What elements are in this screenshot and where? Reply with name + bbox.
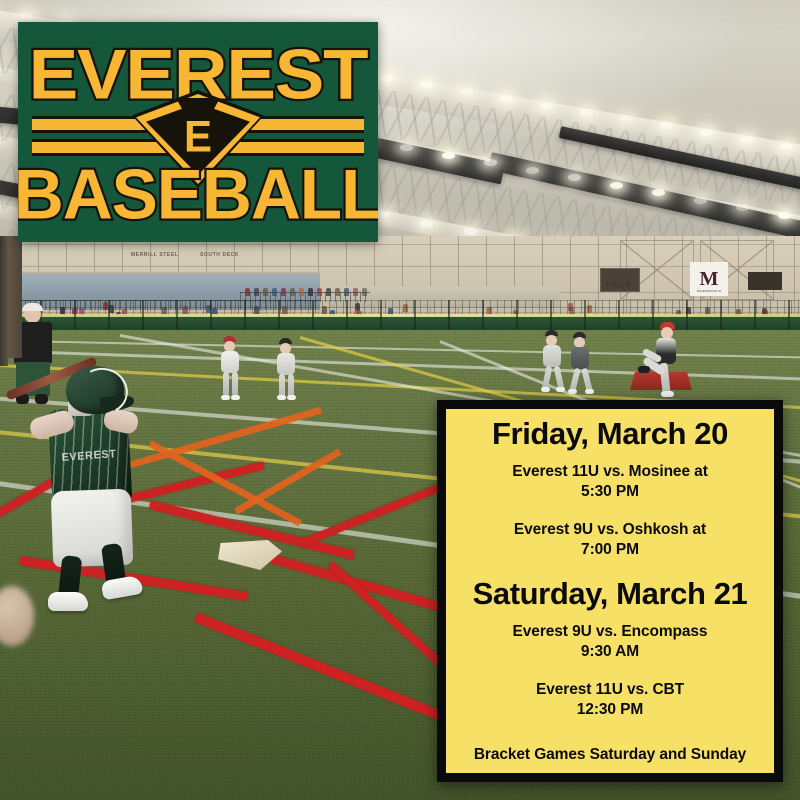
ceiling-light (526, 167, 539, 174)
fence-post (720, 300, 722, 334)
fence-post (346, 300, 348, 334)
logo-monogram-e: E (136, 115, 260, 159)
fence-post (516, 300, 518, 334)
fence-post (142, 300, 144, 334)
ceiling-light (778, 212, 791, 219)
fence-post (108, 300, 110, 334)
fence-post (210, 300, 212, 334)
wall-panel (748, 272, 782, 290)
fence-post (380, 300, 382, 334)
game-matchup: Everest 9U vs. Oshkosh at (514, 520, 706, 540)
wall-sign-merrill-steel: MERRILL STEEL (131, 252, 178, 258)
fence-post (618, 300, 620, 334)
ceiling-light (400, 144, 413, 151)
spectator (362, 288, 367, 296)
fence-post (686, 300, 688, 334)
everest-baseball-logo: EVEREST E BASEBALL (18, 22, 378, 242)
scoreboard-label: FIELD (606, 282, 631, 289)
spectator (254, 288, 259, 296)
ceiling-light (540, 102, 553, 109)
spectator (245, 288, 250, 296)
fence-top-rail (0, 314, 800, 317)
spectator (281, 288, 286, 296)
wall-sign-south-deck: SOUTH DECK (200, 252, 239, 258)
fence-post (414, 300, 416, 334)
ceiling-light (442, 152, 455, 159)
game-row: Everest 9U vs. Oshkosh at 7:00 PM (514, 520, 706, 560)
spectator (335, 288, 340, 296)
game-row: Everest 11U vs. Mosinee at 5:30 PM (512, 462, 708, 502)
game-time: 12:30 PM (536, 700, 684, 720)
sponsor-banner: M MARSHFIELD (690, 262, 728, 296)
schedule-card: Friday, March 20 Everest 11U vs. Mosinee… (437, 400, 783, 782)
support-post (0, 236, 8, 366)
fence-post (652, 300, 654, 334)
spectator (353, 288, 358, 296)
spectator (299, 288, 304, 296)
fence-post (584, 300, 586, 334)
ceiling-light (500, 95, 513, 102)
ceiling-light (380, 75, 393, 82)
fence-post (550, 300, 552, 334)
logo-text-baseball: BASEBALL (18, 158, 378, 232)
day-title-friday: Friday, March 20 (492, 416, 728, 452)
game-matchup: Everest 11U vs. Mosinee at (512, 462, 708, 482)
fence-post (278, 300, 280, 334)
fence-post (312, 300, 314, 334)
spectator (317, 288, 322, 296)
fence-post (754, 300, 756, 334)
ceiling-light (740, 136, 753, 143)
game-row: Everest 9U vs. Encompass 9:30 AM (513, 622, 708, 662)
game-matchup: Everest 9U vs. Encompass (513, 622, 708, 642)
bracket-footnote: Bracket Games Saturday and Sunday (474, 745, 746, 765)
spectator (326, 288, 331, 296)
game-time: 7:00 PM (514, 540, 706, 560)
batter-shoe (48, 592, 88, 611)
ceiling-light (420, 220, 433, 227)
batter: EVEREST (22, 338, 172, 608)
ceiling-light (580, 109, 593, 116)
spectator (344, 288, 349, 296)
day-title-saturday: Saturday, March 21 (473, 576, 748, 612)
fence-post (244, 300, 246, 334)
game-row: Everest 11U vs. CBT 12:30 PM (536, 680, 684, 720)
banner-subtext: MARSHFIELD (697, 290, 721, 293)
ceiling-light (700, 129, 713, 136)
game-time: 5:30 PM (512, 482, 708, 502)
fence-post (448, 300, 450, 334)
spectator (290, 288, 295, 296)
ceiling-light (780, 143, 793, 150)
game-time: 9:30 AM (513, 642, 708, 662)
game-matchup: Everest 11U vs. CBT (536, 680, 684, 700)
fence-post (482, 300, 484, 334)
fence-post (176, 300, 178, 334)
poster-canvas: MERRILL STEEL SOUTH DECK FIELD M MARSHFI… (0, 0, 800, 800)
ceiling-light (694, 197, 707, 204)
banner-letter: M (700, 269, 719, 289)
spectator (272, 288, 277, 296)
ceiling-light (610, 182, 623, 189)
fence-post (788, 300, 790, 334)
spectator (263, 288, 268, 296)
spectator (308, 288, 313, 296)
schedule-card-face: Friday, March 20 Everest 11U vs. Mosinee… (446, 409, 774, 773)
fence-post (74, 300, 76, 334)
